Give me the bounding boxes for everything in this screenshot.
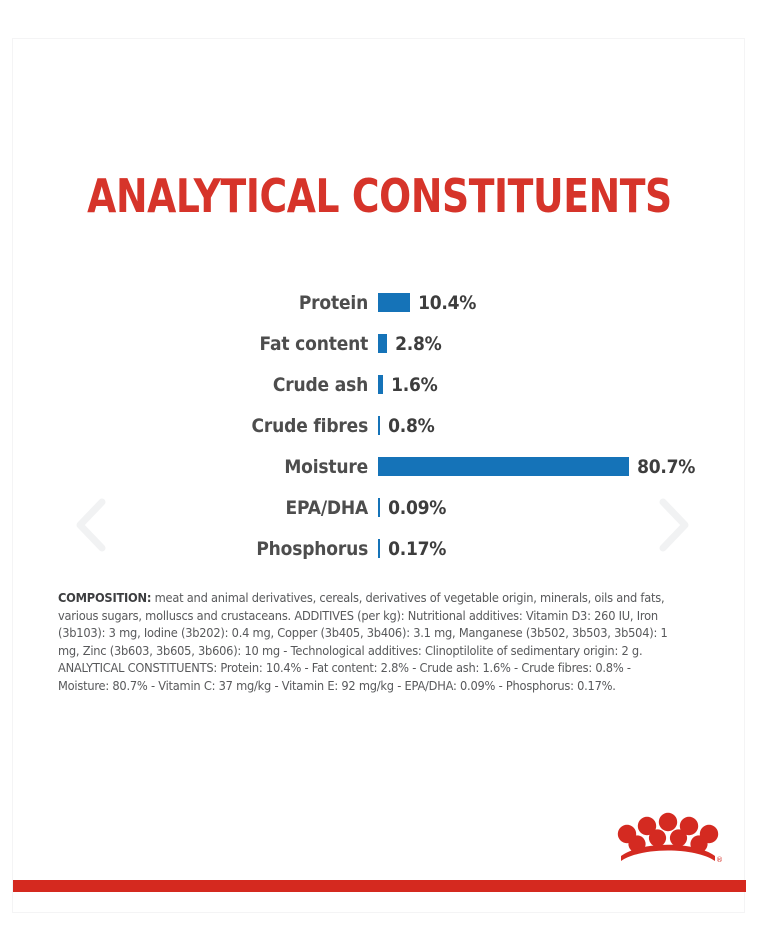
analytical-constituents-bar-chart: Protein10.4%Fat content2.8%Crude ash1.6%… <box>13 282 746 569</box>
page-title: ANALYTICAL CONSTITUENTS <box>79 169 680 223</box>
chart-row-value: 2.8% <box>387 333 441 355</box>
brand-logo: ® <box>613 804 723 866</box>
trademark-symbol: ® <box>716 856 723 864</box>
carousel-next-button[interactable] <box>650 494 694 556</box>
chart-row: Moisture80.7% <box>13 446 746 487</box>
chart-row-value: 0.17% <box>380 538 446 560</box>
chart-row-label: Protein <box>50 292 379 314</box>
chart-row: Crude fibres0.8% <box>13 405 746 446</box>
chart-row-label: Fat content <box>50 333 379 355</box>
product-info-card: ANALYTICAL CONSTITUENTS Protein10.4%Fat … <box>12 38 745 913</box>
chart-row: Protein10.4% <box>13 282 746 323</box>
chart-row: Crude ash1.6% <box>13 364 746 405</box>
chart-row-label: Crude ash <box>50 374 379 396</box>
royal-canin-crown-logo: ® <box>613 804 723 866</box>
composition-heading: COMPOSITION: <box>58 591 151 605</box>
carousel-prev-button[interactable] <box>71 494 115 556</box>
chart-row-bar <box>378 334 387 353</box>
footer-red-rule <box>13 880 746 892</box>
chart-row: Phosphorus0.17% <box>13 528 746 569</box>
chart-row-value: 0.09% <box>380 497 446 519</box>
chart-row: EPA/DHA0.09% <box>13 487 746 528</box>
chevron-left-icon <box>71 494 115 556</box>
chart-row-value: 1.6% <box>383 374 437 396</box>
chevron-right-icon <box>650 494 694 556</box>
chart-row-bar <box>378 293 410 312</box>
chart-row-bar <box>378 457 629 476</box>
composition-body: meat and animal derivatives, cereals, de… <box>58 591 668 693</box>
chart-row-label: Moisture <box>50 456 379 478</box>
chart-row-value: 80.7% <box>629 456 695 478</box>
chart-row-value: 10.4% <box>410 292 476 314</box>
chart-row-value: 0.8% <box>380 415 434 437</box>
chart-row: Fat content2.8% <box>13 323 746 364</box>
composition-paragraph: COMPOSITION: meat and animal derivatives… <box>58 590 672 696</box>
chart-row-label: Crude fibres <box>50 415 379 437</box>
screenshot-viewport: ANALYTICAL CONSTITUENTS Protein10.4%Fat … <box>0 0 757 950</box>
